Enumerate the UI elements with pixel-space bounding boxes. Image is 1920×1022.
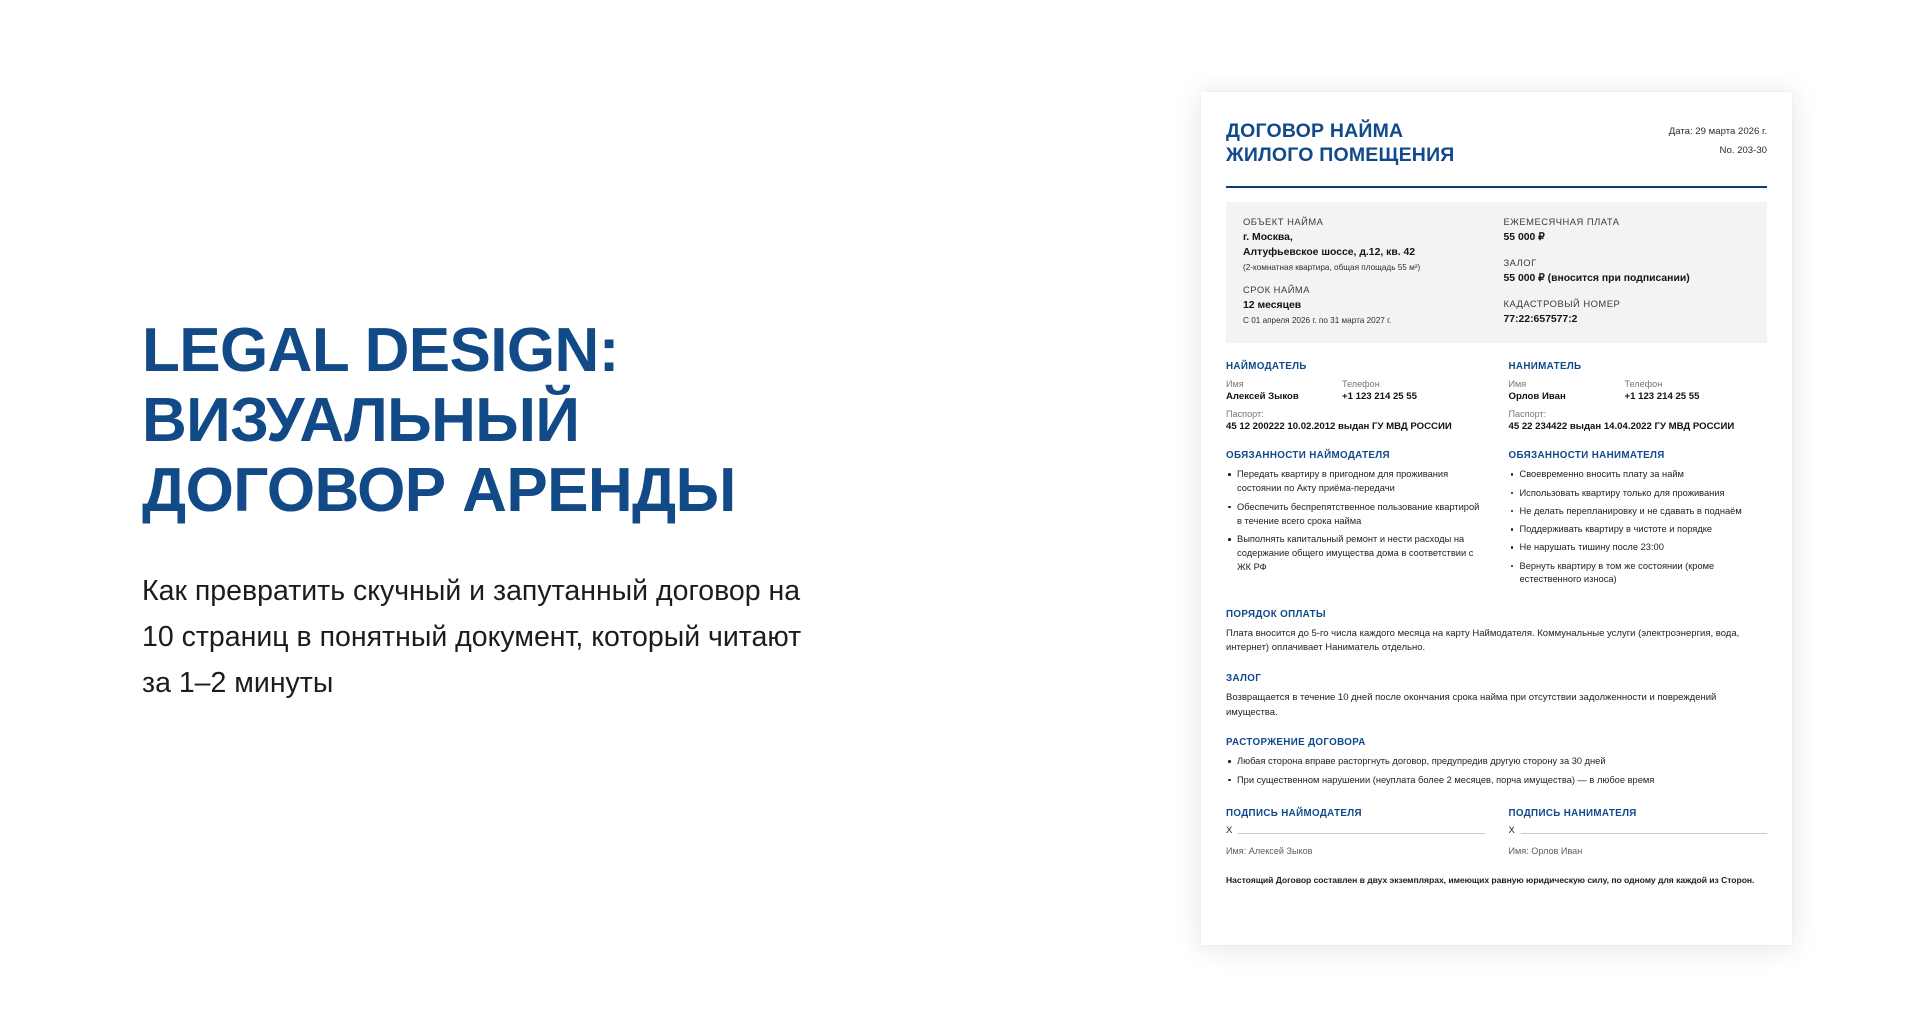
payment-terms-heading: ПОРЯДОК ОПЛАТЫ xyxy=(1226,609,1767,620)
list-item: При существенном нарушении (неуплата бол… xyxy=(1226,774,1767,788)
termination-section: РАСТОРЖЕНИЕ ДОГОВОРА Любая сторона вправ… xyxy=(1226,737,1767,787)
rental-term-note: С 01 апреля 2026 г. по 31 марта 2027 г. xyxy=(1243,316,1490,327)
landlord-phone-value: +1 123 214 25 55 xyxy=(1342,391,1417,402)
tenant-phone-label: Телефон xyxy=(1625,379,1700,389)
tenant-party-block: НАНИМАТЕЛЬ Имя Орлов Иван Телефон +1 123… xyxy=(1509,361,1768,432)
landlord-passport-value: 45 12 200222 10.02.2012 выдан ГУ МВД РОС… xyxy=(1226,421,1485,432)
left-content-pane: LEGAL DESIGN: ВИЗУАЛЬНЫЙ ДОГОВОР АРЕНДЫ … xyxy=(142,0,1042,1022)
tenant-obligations-heading: ОБЯЗАННОСТИ НАНИМАТЕЛЯ xyxy=(1509,450,1768,461)
rental-term-value: 12 месяцев xyxy=(1243,299,1490,314)
landlord-name-label: Имя xyxy=(1226,379,1324,389)
tenant-name-field: Имя Орлов Иван xyxy=(1509,379,1607,402)
payment-terms-text: Плата вносится до 5-го числа каждого мес… xyxy=(1226,627,1767,656)
termination-list: Любая сторона вправе расторгнуть договор… xyxy=(1226,755,1767,787)
tenant-obligations-list: Своевременно вносить плату за найм Испол… xyxy=(1509,468,1768,587)
signature-x-mark: X xyxy=(1509,826,1515,836)
monthly-rent-label: ЕЖЕМЕСЯЧНАЯ ПЛАТА xyxy=(1504,216,1751,227)
termination-heading: РАСТОРЖЕНИЕ ДОГОВОРА xyxy=(1226,737,1767,748)
list-item: Любая сторона вправе расторгнуть договор… xyxy=(1226,755,1767,769)
header-divider xyxy=(1226,186,1767,188)
document-title-line-1: ДОГОВОР НАЙМА xyxy=(1226,120,1455,144)
landlord-name-field: Имя Алексей Зыков xyxy=(1226,379,1324,402)
page-title: LEGAL DESIGN: ВИЗУАЛЬНЫЙ ДОГОВОР АРЕНДЫ xyxy=(142,316,1042,526)
signature-line xyxy=(1238,833,1484,834)
document-header: ДОГОВОР НАЙМА ЖИЛОГО ПОМЕЩЕНИЯ Дата: 29 … xyxy=(1226,120,1767,168)
deposit-terms-section: ЗАЛОГ Возвращается в течение 10 дней пос… xyxy=(1226,673,1767,720)
cadastral-number-label: КАДАСТРОВЫЙ НОМЕР xyxy=(1504,298,1751,309)
landlord-heading: НАЙМОДАТЕЛЬ xyxy=(1226,361,1485,372)
list-item: Передать квартиру в пригодном для прожив… xyxy=(1226,468,1485,496)
deposit-terms-heading: ЗАЛОГ xyxy=(1226,673,1767,684)
list-item: Обеспечить беспрепятственное пользование… xyxy=(1226,501,1485,529)
document-number: No. 203-30 xyxy=(1669,142,1767,161)
list-item: Выполнять капитальный ремонт и нести рас… xyxy=(1226,533,1485,574)
key-terms-box: ОБЪЕКТ НАЙМА г. Москва, Алтуфьевское шос… xyxy=(1226,202,1767,343)
document-meta: Дата: 29 марта 2026 г. No. 203-30 xyxy=(1669,120,1767,160)
tenant-heading: НАНИМАТЕЛЬ xyxy=(1509,361,1768,372)
tenant-signature-name: Имя: Орлов Иван xyxy=(1509,846,1768,856)
list-item: Не нарушать тишину после 23:00 xyxy=(1509,541,1768,555)
signature-line xyxy=(1521,833,1767,834)
landlord-obligations-block: ОБЯЗАННОСТИ НАЙМОДАТЕЛЯ Передать квартир… xyxy=(1226,450,1485,591)
document-footnote: Настоящий Договор составлен в двух экзем… xyxy=(1226,875,1767,885)
rental-object-label: ОБЪЕКТ НАЙМА xyxy=(1243,216,1490,227)
document-title: ДОГОВОР НАЙМА ЖИЛОГО ПОМЕЩЕНИЯ xyxy=(1226,120,1455,168)
tenant-phone-value: +1 123 214 25 55 xyxy=(1625,391,1700,402)
tenant-passport-value: 45 22 234422 выдан 14.04.2022 ГУ МВД РОС… xyxy=(1509,421,1768,432)
deposit-terms-text: Возвращается в течение 10 дней после око… xyxy=(1226,691,1767,720)
rental-object-line-1: г. Москва, xyxy=(1243,231,1490,246)
tenant-obligations-block: ОБЯЗАННОСТИ НАНИМАТЕЛЯ Своевременно внос… xyxy=(1509,450,1768,591)
list-item: Своевременно вносить плату за найм xyxy=(1509,468,1768,482)
landlord-passport-label: Паспорт: xyxy=(1226,409,1485,419)
tenant-passport-field: Паспорт: 45 22 234422 выдан 14.04.2022 Г… xyxy=(1509,409,1768,432)
landlord-passport-field: Паспорт: 45 12 200222 10.02.2012 выдан Г… xyxy=(1226,409,1485,432)
tenant-name-value: Орлов Иван xyxy=(1509,391,1607,402)
landlord-phone-field: Телефон +1 123 214 25 55 xyxy=(1342,379,1417,402)
list-item: Использовать квартиру только для прожива… xyxy=(1509,487,1768,501)
headline-line-3: ДОГОВОР АРЕНДЫ xyxy=(142,456,1042,526)
key-terms-left-column: ОБЪЕКТ НАЙМА г. Москва, Алтуфьевское шос… xyxy=(1243,216,1490,327)
tenant-phone-field: Телефон +1 123 214 25 55 xyxy=(1625,379,1700,402)
subheading: Как превратить скучный и запутанный дого… xyxy=(142,568,832,706)
key-terms-right-column: ЕЖЕМЕСЯЧНАЯ ПЛАТА 55 000 ₽ ЗАЛОГ 55 000 … xyxy=(1504,216,1751,327)
list-item: Вернуть квартиру в том же состоянии (кро… xyxy=(1509,560,1768,588)
document-date: Дата: 29 марта 2026 г. xyxy=(1669,123,1767,142)
landlord-obligations-list: Передать квартиру в пригодном для прожив… xyxy=(1226,468,1485,574)
tenant-passport-label: Паспорт: xyxy=(1509,409,1768,419)
landlord-party-block: НАЙМОДАТЕЛЬ Имя Алексей Зыков Телефон +1… xyxy=(1226,361,1485,432)
cadastral-number-value: 77:22:657577:2 xyxy=(1504,313,1751,328)
document-title-line-2: ЖИЛОГО ПОМЕЩЕНИЯ xyxy=(1226,144,1455,168)
tenant-signature-field[interactable]: X xyxy=(1509,826,1768,836)
rental-term-label: СРОК НАЙМА xyxy=(1243,284,1490,295)
monthly-rent-value: 55 000 ₽ xyxy=(1504,231,1751,246)
parties-section: НАЙМОДАТЕЛЬ Имя Алексей Зыков Телефон +1… xyxy=(1226,361,1767,432)
landlord-name-value: Алексей Зыков xyxy=(1226,391,1324,402)
obligations-section: ОБЯЗАННОСТИ НАЙМОДАТЕЛЯ Передать квартир… xyxy=(1226,450,1767,591)
signature-x-mark: X xyxy=(1226,826,1232,836)
contract-document-card: ДОГОВОР НАЙМА ЖИЛОГО ПОМЕЩЕНИЯ Дата: 29 … xyxy=(1201,92,1792,945)
deposit-label: ЗАЛОГ xyxy=(1504,257,1751,268)
signatures-section: ПОДПИСЬ НАЙМОДАТЕЛЯ X Имя: Алексей Зыков… xyxy=(1226,808,1767,856)
rental-object-value: г. Москва, Алтуфьевское шоссе, д.12, кв.… xyxy=(1243,231,1490,261)
headline-line-2: ВИЗУАЛЬНЫЙ xyxy=(142,386,1042,456)
list-item: Не делать перепланировку и не сдавать в … xyxy=(1509,505,1768,519)
slide-canvas: LEGAL DESIGN: ВИЗУАЛЬНЫЙ ДОГОВОР АРЕНДЫ … xyxy=(0,0,1920,1022)
rental-object-line-2: Алтуфьевское шоссе, д.12, кв. 42 xyxy=(1243,246,1490,261)
tenant-signature-heading: ПОДПИСЬ НАНИМАТЕЛЯ xyxy=(1509,808,1768,819)
deposit-value: 55 000 ₽ (вносится при подписании) xyxy=(1504,272,1751,287)
tenant-name-label: Имя xyxy=(1509,379,1607,389)
landlord-obligations-heading: ОБЯЗАННОСТИ НАЙМОДАТЕЛЯ xyxy=(1226,450,1485,461)
headline-line-1: LEGAL DESIGN: xyxy=(142,316,1042,386)
landlord-phone-label: Телефон xyxy=(1342,379,1417,389)
landlord-signature-name: Имя: Алексей Зыков xyxy=(1226,846,1485,856)
landlord-signature-heading: ПОДПИСЬ НАЙМОДАТЕЛЯ xyxy=(1226,808,1485,819)
payment-terms-section: ПОРЯДОК ОПЛАТЫ Плата вносится до 5-го чи… xyxy=(1226,609,1767,656)
list-item: Поддерживать квартиру в чистоте и порядк… xyxy=(1509,523,1768,537)
rental-object-note: (2-комнатная квартира, общая площадь 55 … xyxy=(1243,263,1490,274)
tenant-signature-block: ПОДПИСЬ НАНИМАТЕЛЯ X Имя: Орлов Иван xyxy=(1509,808,1768,856)
landlord-signature-field[interactable]: X xyxy=(1226,826,1485,836)
landlord-signature-block: ПОДПИСЬ НАЙМОДАТЕЛЯ X Имя: Алексей Зыков xyxy=(1226,808,1485,856)
